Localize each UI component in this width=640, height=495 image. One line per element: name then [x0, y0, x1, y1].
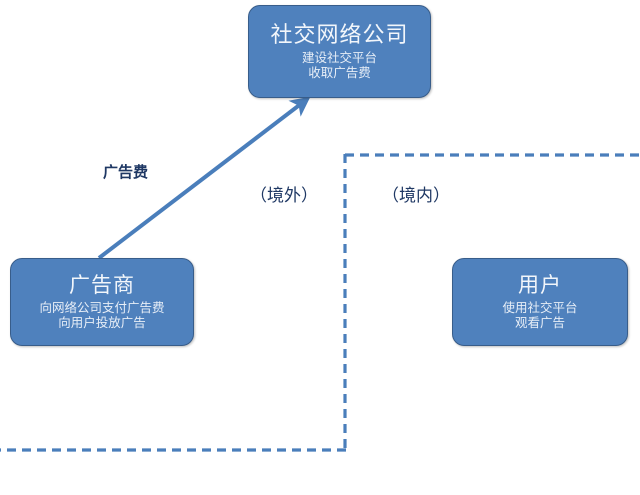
- region-label-offshore: （境外）: [250, 181, 318, 206]
- node-advertiser[interactable]: 广告商 向网络公司支付广告费 向用户投放广告: [10, 258, 194, 346]
- diagram-canvas: 社交网络公司 建设社交平台 收取广告费 广告商 向网络公司支付广告费 向用户投放…: [0, 0, 640, 495]
- node-detail-line: 收取广告费: [308, 66, 371, 82]
- region-label-onshore: （境内）: [382, 181, 450, 206]
- node-detail-line: 使用社交平台: [502, 301, 577, 317]
- node-social-network-company[interactable]: 社交网络公司 建设社交平台 收取广告费: [248, 5, 431, 98]
- node-title: 广告商: [69, 272, 135, 298]
- node-detail-line: 向网络公司支付广告费: [39, 301, 164, 317]
- node-user[interactable]: 用户 使用社交平台 观看广告: [452, 258, 628, 346]
- node-title: 用户: [518, 272, 562, 298]
- node-detail-line: 向用户投放广告: [58, 316, 146, 332]
- node-detail-line: 建设社交平台: [302, 51, 377, 67]
- node-title: 社交网络公司: [270, 21, 408, 49]
- node-detail-line: 观看广告: [515, 316, 565, 332]
- edge-label-advertising-fee: 广告费: [103, 161, 148, 182]
